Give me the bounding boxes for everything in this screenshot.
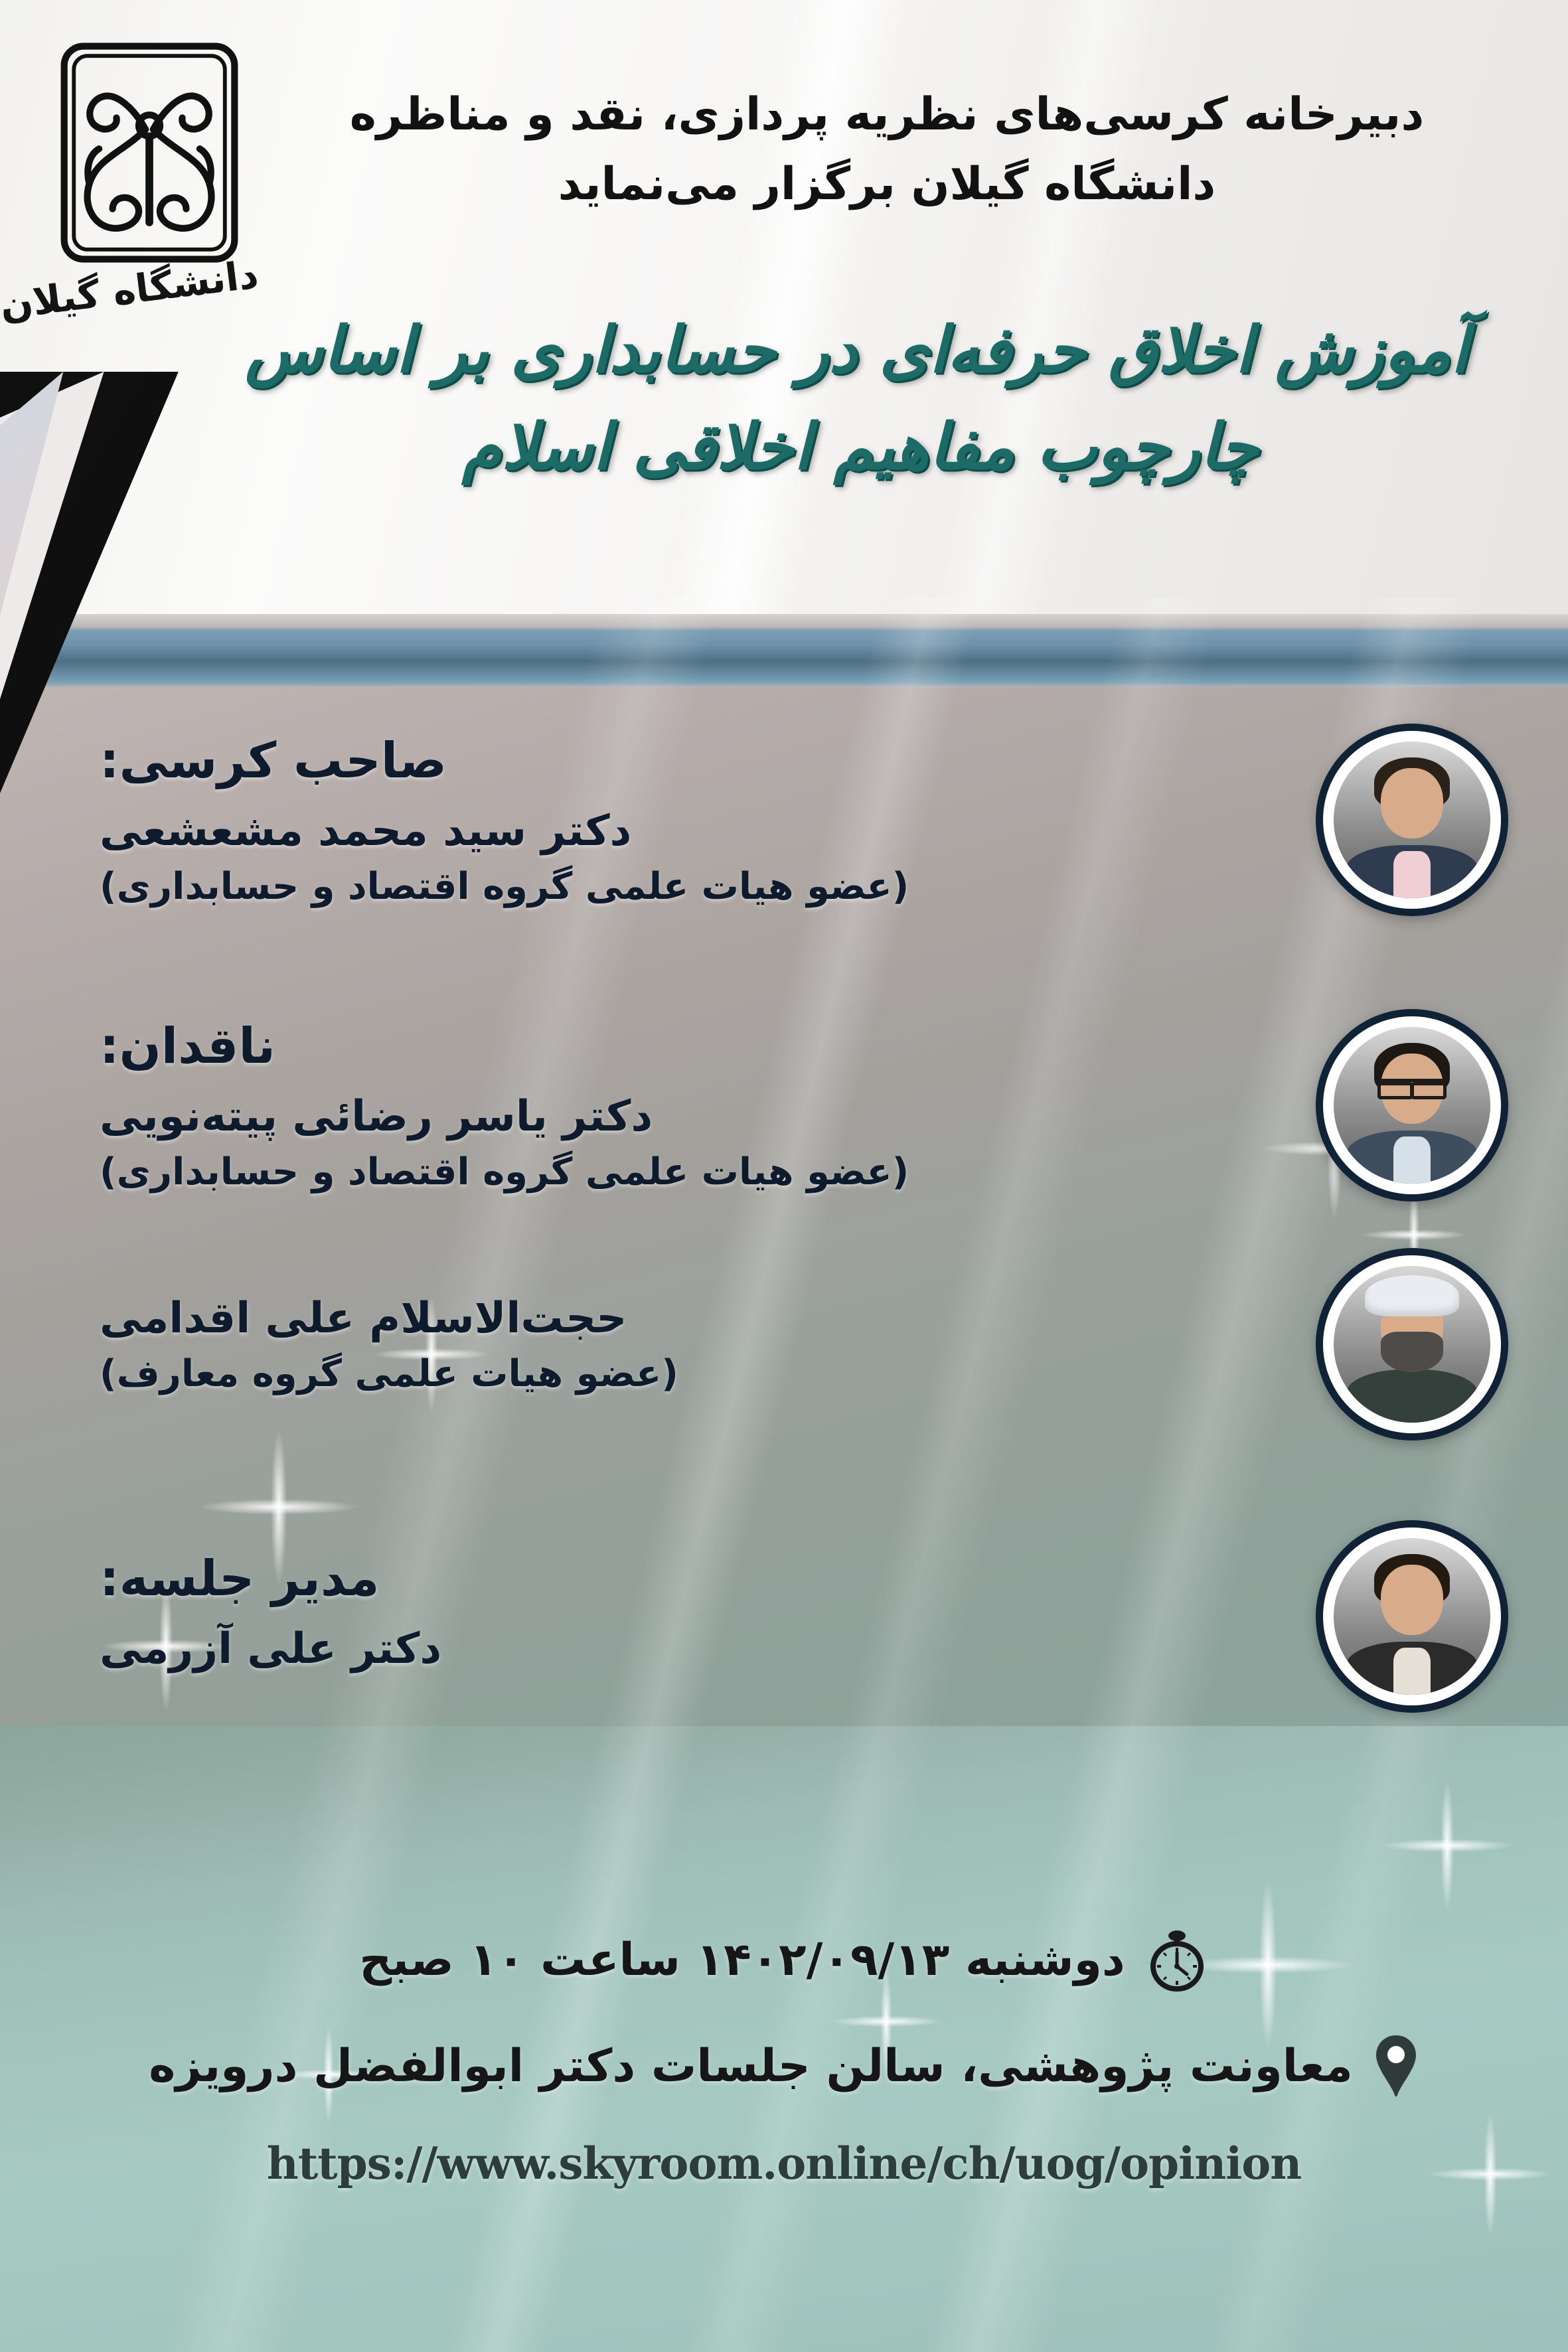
header-line-1: دبیرخانه کرسی‌های نظریه پردازی، نقد و من… xyxy=(285,80,1488,149)
event-location: معاونت پژوهشی، سالن جلسات دکتر ابوالفضل … xyxy=(149,2040,1353,2092)
portrait-photo xyxy=(1334,742,1490,898)
event-datetime: دوشنبه ۱۴۰۲/۰۹/۱۳ ساعت ۱۰ صبح xyxy=(359,1934,1125,1986)
portrait-photo xyxy=(1334,1266,1490,1423)
divider-band xyxy=(0,614,1568,690)
footer: دوشنبه ۱۴۰۲/۰۹/۱۳ ساعت ۱۰ صبح معاونت پژو… xyxy=(0,1925,1568,2189)
participant-critic-1: ناقدان: دکتر یاسر رضائی پیته‌نویی (عضو ه… xyxy=(60,1009,1508,1202)
title-line-2: چارچوب مفاهیم اخلاقی اسلام xyxy=(252,399,1468,496)
participant-name: دکتر سید محمد مشعشعی xyxy=(100,807,1289,856)
participant-name: دکتر علی آزرمی xyxy=(100,1624,1289,1674)
portrait-photo xyxy=(1334,1538,1490,1695)
event-url[interactable]: https://www.skyroom.online/ch/uog/opinio… xyxy=(60,2138,1508,2189)
stopwatch-icon xyxy=(1145,1925,1209,1994)
participants-section: صاحب کرسی: دکتر سید محمد مشعشعی (عضو هیا… xyxy=(0,724,1568,1713)
title-line-1: آموزش اخلاق حرفه‌ای در حسابداری بر اساس xyxy=(252,302,1468,399)
portrait-photo xyxy=(1334,1027,1490,1184)
footer-location-row: معاونت پژوهشی، سالن جلسات دکتر ابوالفضل … xyxy=(60,2033,1508,2099)
participant-affiliation: (عضو هیات علمی گروه معارف) xyxy=(100,1352,1289,1395)
participant-affiliation: (عضو هیات علمی گروه اقتصاد و حسابداری) xyxy=(100,1150,1289,1194)
participant-affiliation: (عضو هیات علمی گروه اقتصاد و حسابداری) xyxy=(100,865,1289,908)
university-of-gilan-emblem-icon xyxy=(50,37,249,269)
event-poster: MCMRM-M+÷ 789×% 456−√ 123+C 000.=AC xyxy=(0,0,1568,2352)
avatar xyxy=(1316,1248,1508,1441)
participant-name: دکتر یاسر رضائی پیته‌نویی xyxy=(100,1092,1289,1141)
participant-moderator: مدیر جلسه: دکتر علی آزرمی xyxy=(60,1520,1508,1713)
footer-datetime-row: دوشنبه ۱۴۰۲/۰۹/۱۳ ساعت ۱۰ صبح xyxy=(60,1925,1508,1994)
header-line-2: دانشگاه گیلان برگزار می‌نماید xyxy=(285,149,1488,219)
avatar xyxy=(1316,1520,1508,1713)
map-pin-icon xyxy=(1373,2033,1419,2099)
avatar xyxy=(1316,724,1508,916)
participant-role: صاحب کرسی: xyxy=(100,732,1289,789)
university-logo: دانشگاه گیلان xyxy=(40,37,259,349)
participant-critic-2: حجت‌الاسلام علی اقدامی (عضو هیات علمی گر… xyxy=(60,1248,1508,1441)
participant-role: ناقدان: xyxy=(100,1018,1289,1075)
avatar xyxy=(1316,1009,1508,1202)
participant-name: حجت‌الاسلام علی اقدامی xyxy=(100,1294,1289,1343)
participant-role: مدیر جلسه: xyxy=(100,1550,1289,1607)
participant-chair-holder: صاحب کرسی: دکتر سید محمد مشعشعی (عضو هیا… xyxy=(60,724,1508,916)
